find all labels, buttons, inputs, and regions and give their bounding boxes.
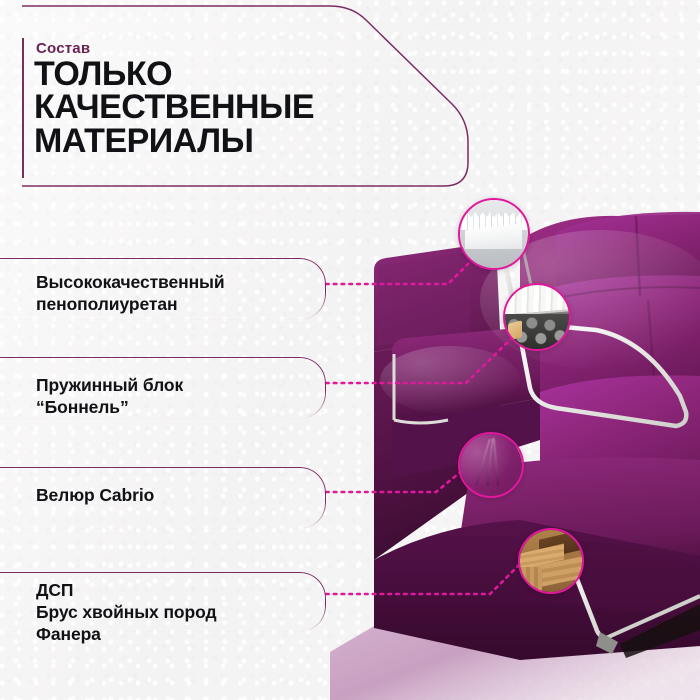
velour-fold-3 [493,438,499,486]
headline-line-3: МАТЕРИАЛЫ [34,125,424,158]
header-block: Состав ТОЛЬКО КАЧЕСТВЕННЫЕ МАТЕРИАЛЫ [0,0,430,190]
feature-label-wood: ДСП Брус хвойных пород Фанера [36,580,216,646]
feature-label-springs: Пружинный блок “Боннель” [36,375,183,419]
headline-line-1: ТОЛЬКО [34,58,424,91]
spring-block-swatch-icon [505,285,569,349]
feature-label-foam: Высококачественный пенополиуретан [36,272,225,316]
velour-swatch-icon [460,434,522,496]
foam-base-detail [460,249,528,268]
spring-wood-frame-detail [508,320,522,340]
header-accent-rule [22,38,24,178]
callout-spring-block-swatch-icon[interactable] [503,283,571,351]
callout-wood-swatch-icon[interactable] [518,528,584,594]
feature-springs-line-2: “Боннель” [36,397,183,419]
feature-springs-line-1: Пружинный блок [36,375,183,397]
wood-swatch-icon [520,530,582,592]
foam-swatch-icon [460,200,528,268]
feature-wood-line-2: Брус хвойных пород [36,602,216,624]
callout-foam-swatch-icon[interactable] [458,198,530,270]
callout-velour-swatch-icon[interactable] [458,432,524,498]
sofa-illustration [374,212,700,660]
feature-wood-line-3: Фанера [36,624,216,646]
wood-plank-end-grain [518,567,542,592]
spring-quilting-detail [503,283,571,317]
headline-line-2: КАЧЕСТВЕННЫЕ [34,91,424,124]
feature-velour-line-1: Велюр Cabrio [36,485,154,507]
feature-foam-line-1: Высококачественный [36,272,225,294]
feature-foam-line-2: пенополиуретан [36,294,225,316]
page-title: ТОЛЬКО КАЧЕСТВЕННЫЕ МАТЕРИАЛЫ [34,58,424,158]
infographic-canvas: Состав ТОЛЬКО КАЧЕСТВЕННЫЕ МАТЕРИАЛЫ Выс… [0,0,700,700]
feature-label-velour: Велюр Cabrio [36,485,154,507]
feature-wood-line-1: ДСП [36,580,216,602]
